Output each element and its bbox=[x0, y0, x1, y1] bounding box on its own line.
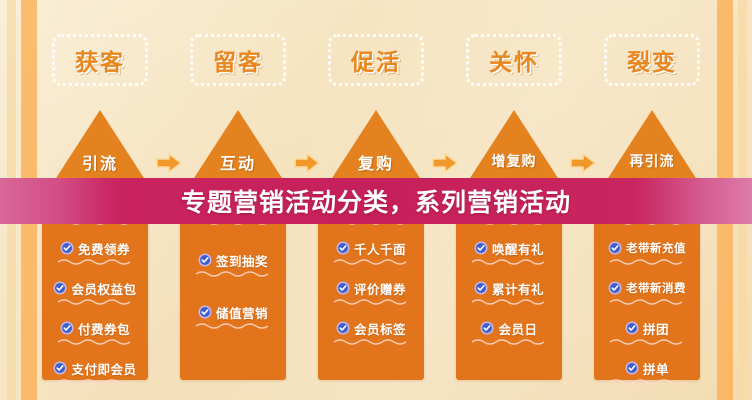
list-item-label: 储值营销 bbox=[216, 303, 268, 322]
title-banner: 专题营销活动分类，系列营销活动 bbox=[0, 178, 752, 224]
list-item-label: 唤醒有礼 bbox=[492, 239, 544, 258]
list-item[interactable]: 会员日 bbox=[456, 308, 562, 348]
check-circle-icon bbox=[198, 305, 212, 319]
list-item[interactable]: 签到抽奖 bbox=[180, 240, 286, 280]
list-item-label: 拼团 bbox=[643, 319, 669, 338]
funnel-step-label-2: 互动 bbox=[220, 150, 256, 174]
stage-label-text: 关怀 bbox=[489, 43, 539, 77]
squiggle-underline-icon bbox=[333, 258, 409, 265]
list-item[interactable]: 老带新消费 bbox=[594, 268, 700, 308]
squiggle-underline-icon bbox=[609, 378, 685, 385]
list-item[interactable]: 评价赠券 bbox=[318, 268, 424, 308]
list-item-label: 付费券包 bbox=[78, 319, 130, 338]
arrow-right-icon-2 bbox=[293, 152, 321, 174]
list-item[interactable]: 会员标签 bbox=[318, 308, 424, 348]
squiggle-underline-icon bbox=[609, 298, 685, 305]
check-circle-icon bbox=[53, 361, 67, 375]
list-item[interactable]: 支付即会员 bbox=[42, 348, 148, 388]
list-item[interactable]: 老带新充值 bbox=[594, 228, 700, 268]
squiggle-underline-icon bbox=[333, 338, 409, 345]
squiggle-underline-icon bbox=[57, 258, 133, 265]
funnel-step-label-4: 增复购 bbox=[492, 151, 537, 171]
squiggle-underline-icon bbox=[609, 338, 685, 345]
list-item[interactable]: 会员权益包 bbox=[42, 268, 148, 308]
check-circle-icon bbox=[474, 241, 488, 255]
funnel-step-label-1: 引流 bbox=[82, 150, 118, 174]
list-item-label: 老带新充值 bbox=[626, 240, 686, 256]
funnel-step-label-3: 复购 bbox=[358, 150, 394, 174]
funnel-step-label-5: 再引流 bbox=[630, 151, 675, 171]
list-item-label: 签到抽奖 bbox=[216, 251, 268, 270]
check-circle-icon bbox=[60, 241, 74, 255]
list-item[interactable]: 付费券包 bbox=[42, 308, 148, 348]
squiggle-underline-icon bbox=[195, 322, 271, 329]
check-circle-icon bbox=[625, 321, 639, 335]
list-item-label: 会员日 bbox=[498, 319, 537, 338]
squiggle-underline-icon bbox=[471, 298, 547, 305]
check-circle-icon bbox=[608, 281, 622, 295]
squiggle-underline-icon bbox=[195, 270, 271, 277]
check-circle-icon bbox=[480, 321, 494, 335]
list-item-label: 评价赠券 bbox=[354, 279, 406, 298]
stage-label-text: 促活 bbox=[351, 43, 401, 77]
list-item-label: 拼单 bbox=[643, 359, 669, 378]
check-circle-icon bbox=[608, 241, 622, 255]
check-circle-icon bbox=[336, 241, 350, 255]
list-item[interactable]: 累计有礼 bbox=[456, 268, 562, 308]
list-item-label: 会员权益包 bbox=[71, 279, 136, 298]
squiggle-underline-icon bbox=[333, 298, 409, 305]
squiggle-underline-icon bbox=[471, 258, 547, 265]
list-item[interactable]: 唤醒有礼 bbox=[456, 228, 562, 268]
squiggle-underline-icon bbox=[57, 338, 133, 345]
arrow-right-icon-1 bbox=[155, 152, 183, 174]
stage-label-box-4[interactable]: 关怀 bbox=[466, 34, 562, 86]
check-circle-icon bbox=[53, 281, 67, 295]
stage-label-box-1[interactable]: 获客 bbox=[52, 34, 148, 86]
stage-label-text: 获客 bbox=[75, 43, 125, 77]
list-item-label: 老带新消费 bbox=[626, 280, 686, 296]
list-item-label: 会员标签 bbox=[354, 319, 406, 338]
check-circle-icon bbox=[625, 361, 639, 375]
squiggle-underline-icon bbox=[471, 338, 547, 345]
stage-label-box-2[interactable]: 留客 bbox=[190, 34, 286, 86]
list-item-label: 免费领券 bbox=[78, 239, 130, 258]
stage-label-box-3[interactable]: 促活 bbox=[328, 34, 424, 86]
arrow-right-icon-4 bbox=[569, 152, 597, 174]
list-item-label: 支付即会员 bbox=[71, 359, 136, 378]
infographic-canvas: 获客 留客 促活 关怀 裂变 引流 互动 复购 增复购 再引流 注册有礼 免费领… bbox=[0, 0, 752, 400]
list-item[interactable]: 千人千面 bbox=[318, 228, 424, 268]
banner-title: 专题营销活动分类，系列营销活动 bbox=[181, 183, 571, 219]
list-item[interactable]: 免费领券 bbox=[42, 228, 148, 268]
check-circle-icon bbox=[198, 253, 212, 267]
squiggle-underline-icon bbox=[609, 258, 685, 265]
stage-label-text: 裂变 bbox=[627, 43, 677, 77]
check-circle-icon bbox=[474, 281, 488, 295]
arrow-right-icon-3 bbox=[431, 152, 459, 174]
squiggle-underline-icon bbox=[57, 298, 133, 305]
squiggle-underline-icon bbox=[57, 378, 133, 385]
check-circle-icon bbox=[60, 321, 74, 335]
list-item-label: 累计有礼 bbox=[492, 279, 544, 298]
check-circle-icon bbox=[336, 281, 350, 295]
stage-label-row: 获客 留客 促活 关怀 裂变 bbox=[0, 34, 752, 88]
list-item[interactable]: 拼单 bbox=[594, 348, 700, 388]
list-item[interactable]: 拼团 bbox=[594, 308, 700, 348]
stage-label-text: 留客 bbox=[213, 43, 263, 77]
stage-label-box-5[interactable]: 裂变 bbox=[604, 34, 700, 86]
list-item-label: 千人千面 bbox=[354, 239, 406, 258]
check-circle-icon bbox=[336, 321, 350, 335]
list-item[interactable]: 储值营销 bbox=[180, 292, 286, 332]
